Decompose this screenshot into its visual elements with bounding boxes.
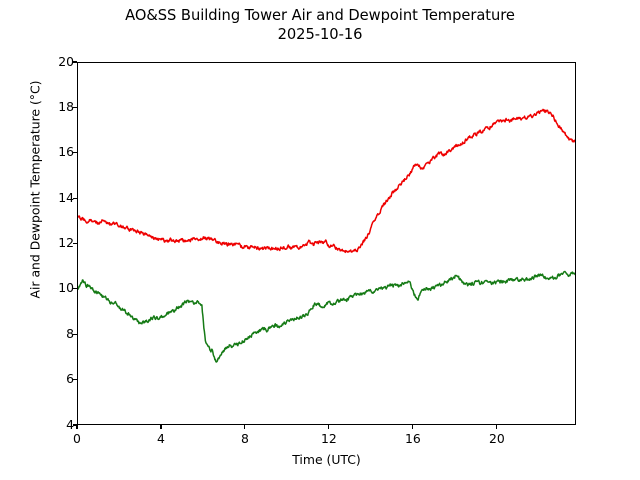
y-tick-label: 16 xyxy=(58,144,74,159)
x-axis-label: Time (UTC) xyxy=(77,452,576,467)
title-line-date: 2025-10-16 xyxy=(0,25,640,44)
plot-area xyxy=(77,62,576,425)
y-tick-label: 20 xyxy=(58,54,74,69)
x-tick-mark xyxy=(328,425,329,429)
air-temperature-line xyxy=(78,109,576,252)
y-tick-label: 14 xyxy=(58,190,74,205)
x-tick-label: 20 xyxy=(477,431,517,446)
y-tick-label: 4 xyxy=(66,417,74,432)
x-tick-label: 16 xyxy=(393,431,433,446)
y-tick-label: 8 xyxy=(66,326,74,341)
y-tick-label: 12 xyxy=(58,235,74,250)
x-tick-mark xyxy=(412,425,413,429)
data-lines-svg xyxy=(78,63,576,425)
title-line-main: AO&SS Building Tower Air and Dewpoint Te… xyxy=(0,6,640,25)
chart-title: AO&SS Building Tower Air and Dewpoint Te… xyxy=(0,6,640,44)
x-tick-label: 12 xyxy=(309,431,349,446)
dewpoint-temperature-line xyxy=(78,272,576,362)
x-tick-mark xyxy=(76,425,77,429)
x-tick-label: 4 xyxy=(141,431,181,446)
chart-figure: AO&SS Building Tower Air and Dewpoint Te… xyxy=(0,0,640,480)
x-tick-mark xyxy=(496,425,497,429)
y-tick-label: 18 xyxy=(58,99,74,114)
y-tick-label: 10 xyxy=(58,280,74,295)
y-axis-label: Air and Dewpoint Temperature (°C) xyxy=(28,25,43,355)
y-tick-label: 6 xyxy=(66,371,74,386)
x-tick-mark xyxy=(160,425,161,429)
x-tick-label: 8 xyxy=(225,431,265,446)
x-tick-mark xyxy=(244,425,245,429)
x-tick-label: 0 xyxy=(57,431,97,446)
